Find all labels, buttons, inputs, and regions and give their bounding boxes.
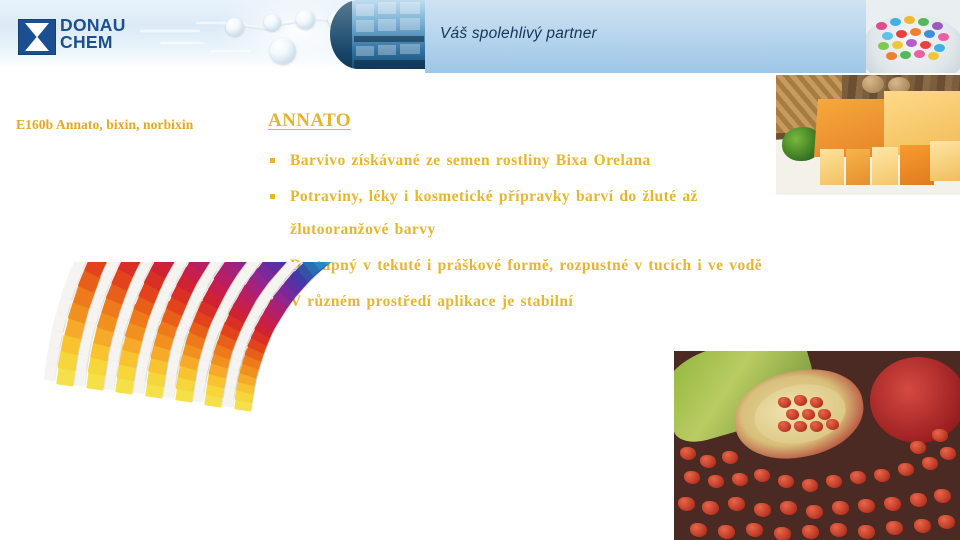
donau-hourglass-icon (18, 19, 56, 55)
cheese-photo (776, 75, 960, 195)
list-item: Barvivo získávané ze semen rostliny Bixa… (268, 144, 768, 177)
additive-code-label: E160b Annato, bixin, norbixin (16, 117, 256, 133)
page-title: ANNATO (268, 110, 768, 132)
annatto-seeds-photo (674, 351, 960, 540)
logo-wordmark: DONAU CHEM (60, 17, 126, 51)
company-logo[interactable]: DONAU CHEM (18, 17, 140, 57)
candies-bowl-photo (866, 0, 960, 73)
slide-header: Váš spolehlivý partner (0, 0, 960, 73)
logo-line-2: CHEM (60, 34, 126, 51)
header-streak (160, 42, 204, 44)
glass-building-photo (330, 0, 426, 69)
header-streak (140, 30, 200, 32)
slide: Váš spolehlivý partner (0, 0, 960, 540)
color-fan-deck-photo (0, 262, 382, 540)
list-item: Potraviny, léky i kosmetické přípravky b… (268, 180, 768, 246)
tagline-text: Váš spolehlivý partner (440, 25, 597, 43)
